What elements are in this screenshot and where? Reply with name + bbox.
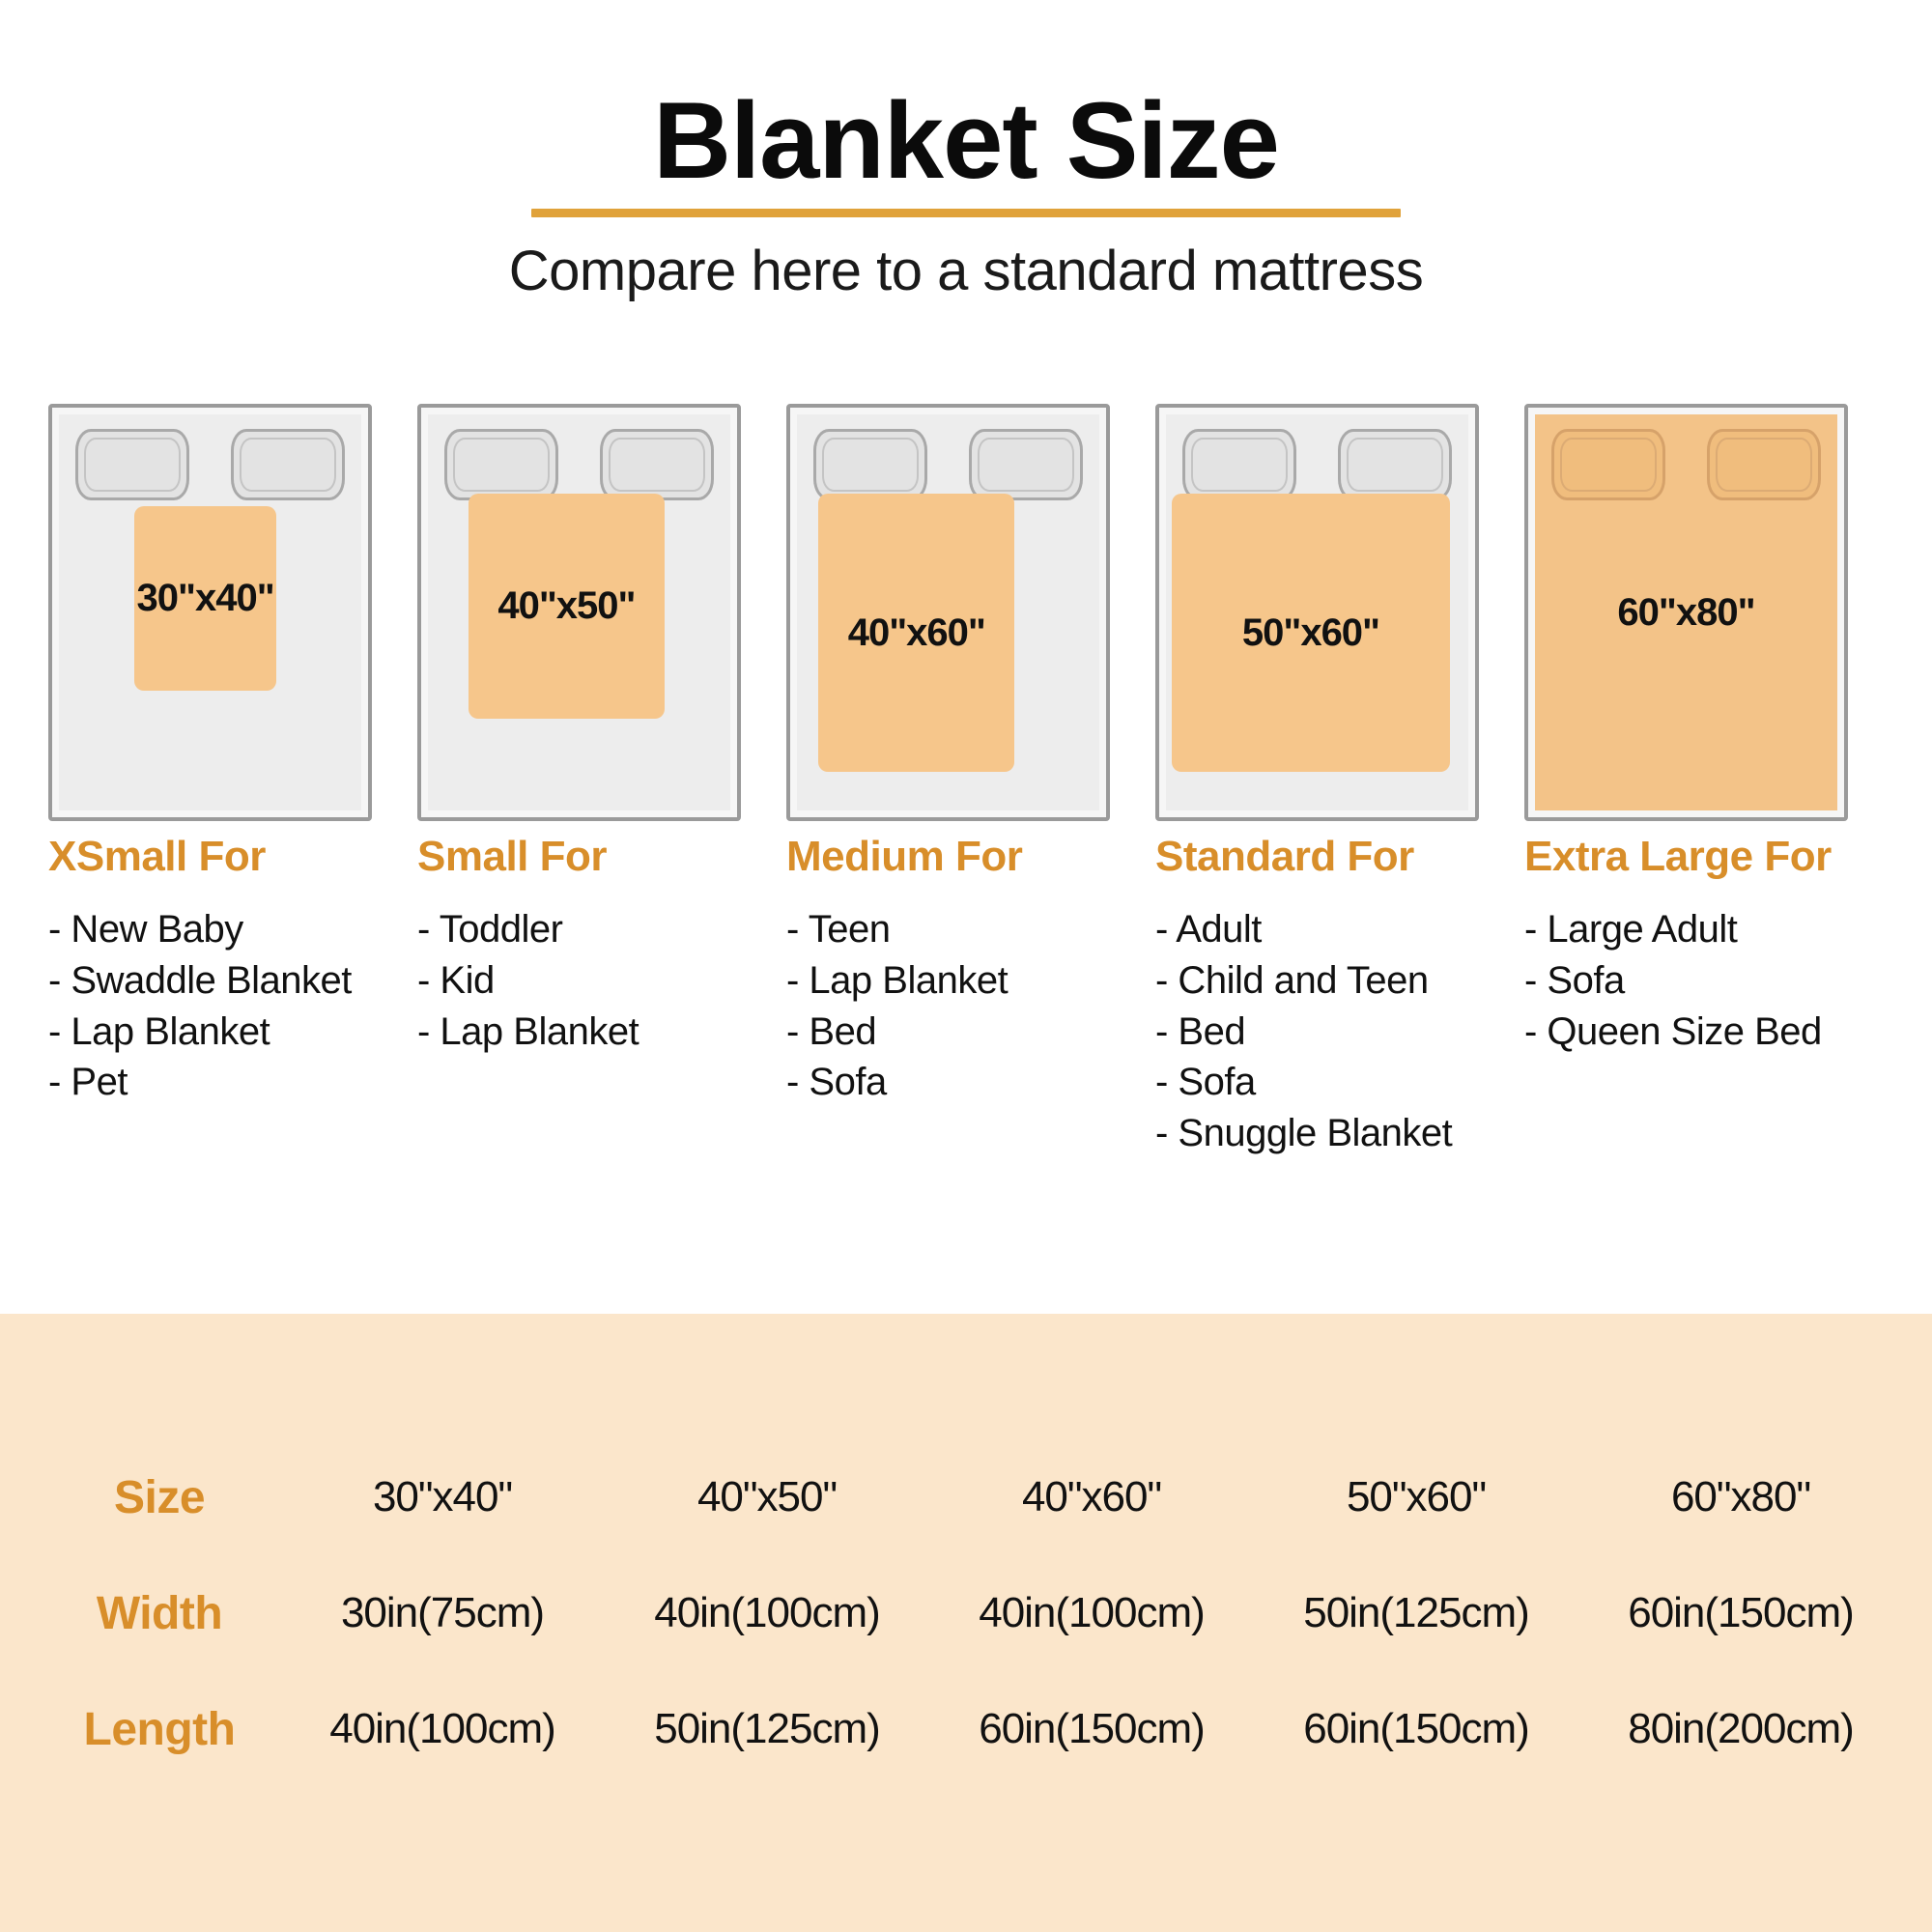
bed-diagram-small: 40"x50" — [417, 404, 741, 821]
blanket-size-label: 60"x80" — [1617, 591, 1754, 635]
table-cell: 60in(150cm) — [929, 1705, 1254, 1753]
column-heading-small: Small For — [417, 833, 786, 881]
bed-diagram-standard: 50"x60" — [1155, 404, 1479, 821]
pillow-icon — [75, 429, 189, 500]
list-item: - Kid — [417, 955, 786, 1007]
page-subtitle: Compare here to a standard mattress — [0, 239, 1932, 303]
size-table: Size 30"x40" 40"x50" 40"x60" 50"x60" 60"… — [39, 1439, 1903, 1787]
bed-diagram-extra-large: 60"x80" — [1524, 404, 1848, 821]
pillow-icon — [444, 429, 558, 500]
usage-column-medium: Medium For - Teen - Lap Blanket - Bed - … — [786, 833, 1155, 1159]
list-item: - Lap Blanket — [786, 955, 1155, 1007]
table-cell: 50"x60" — [1254, 1473, 1578, 1521]
blanket-size-chart: Blanket Size Compare here to a standard … — [0, 0, 1932, 1932]
usage-columns-row: XSmall For - New Baby - Swaddle Blanket … — [48, 833, 1913, 1159]
usage-list-standard: - Adult - Child and Teen - Bed - Sofa - … — [1155, 904, 1524, 1159]
list-item: - Pet — [48, 1057, 417, 1108]
pillow-icon — [1182, 429, 1296, 500]
bed-diagrams-row: 30"x40" 40"x50" 40"x60" — [48, 404, 1893, 821]
list-item: - Sofa — [1524, 955, 1893, 1007]
list-item: - Bed — [786, 1007, 1155, 1058]
blanket-rect-xsmall: 30"x40" — [134, 506, 276, 691]
size-table-panel: Size 30"x40" 40"x50" 40"x60" 50"x60" 60"… — [0, 1314, 1932, 1932]
list-item: - Lap Blanket — [48, 1007, 417, 1058]
bed-cell-small: 40"x50" — [417, 404, 786, 821]
list-item: - Lap Blanket — [417, 1007, 786, 1058]
table-cell: 30"x40" — [280, 1473, 605, 1521]
list-item: - Snuggle Blanket — [1155, 1108, 1524, 1159]
list-item: - Sofa — [1155, 1057, 1524, 1108]
column-heading-standard: Standard For — [1155, 833, 1524, 881]
usage-list-extra-large: - Large Adult - Sofa - Queen Size Bed — [1524, 904, 1893, 1057]
table-cell: 60in(150cm) — [1578, 1589, 1903, 1637]
bed-cell-xsmall: 30"x40" — [48, 404, 417, 821]
pillow-icon — [969, 429, 1083, 500]
blanket-rect-extra-large: 60"x80" — [1528, 408, 1844, 817]
blanket-size-label: 40"x50" — [497, 584, 635, 628]
blanket-rect-small: 40"x50" — [469, 494, 665, 719]
list-item: - Sofa — [786, 1057, 1155, 1108]
pillow-icon — [813, 429, 927, 500]
column-heading-extra-large: Extra Large For — [1524, 833, 1893, 881]
table-row-width: Width 30in(75cm) 40in(100cm) 40in(100cm)… — [39, 1555, 1903, 1671]
table-cell: 40"x50" — [605, 1473, 929, 1521]
column-heading-xsmall: XSmall For — [48, 833, 417, 881]
list-item: - New Baby — [48, 904, 417, 955]
usage-column-standard: Standard For - Adult - Child and Teen - … — [1155, 833, 1524, 1159]
usage-column-small: Small For - Toddler - Kid - Lap Blanket — [417, 833, 786, 1159]
row-label-length: Length — [39, 1703, 280, 1756]
usage-list-small: - Toddler - Kid - Lap Blanket — [417, 904, 786, 1057]
table-cell: 50in(125cm) — [605, 1705, 929, 1753]
bed-diagram-medium: 40"x60" — [786, 404, 1110, 821]
column-heading-medium: Medium For — [786, 833, 1155, 881]
pillow-icon — [231, 429, 345, 500]
table-row-length: Length 40in(100cm) 50in(125cm) 60in(150c… — [39, 1671, 1903, 1787]
row-label-size: Size — [39, 1471, 280, 1524]
bed-cell-medium: 40"x60" — [786, 404, 1155, 821]
list-item: - Queen Size Bed — [1524, 1007, 1893, 1058]
list-item: - Toddler — [417, 904, 786, 955]
header: Blanket Size Compare here to a standard … — [0, 0, 1932, 303]
list-item: - Swaddle Blanket — [48, 955, 417, 1007]
table-cell: 40in(100cm) — [605, 1589, 929, 1637]
table-cell: 40in(100cm) — [929, 1589, 1254, 1637]
list-item: - Large Adult — [1524, 904, 1893, 955]
list-item: - Teen — [786, 904, 1155, 955]
bed-cell-extra-large: 60"x80" — [1524, 404, 1893, 821]
list-item: - Adult — [1155, 904, 1524, 955]
table-row-size: Size 30"x40" 40"x50" 40"x60" 50"x60" 60"… — [39, 1439, 1903, 1555]
title-underline — [531, 209, 1401, 217]
blanket-size-label: 50"x60" — [1242, 611, 1379, 655]
table-cell: 30in(75cm) — [280, 1589, 605, 1637]
usage-list-medium: - Teen - Lap Blanket - Bed - Sofa — [786, 904, 1155, 1108]
table-cell: 40"x60" — [929, 1473, 1254, 1521]
blanket-size-label: 30"x40" — [137, 577, 274, 620]
table-cell: 60"x80" — [1578, 1473, 1903, 1521]
blanket-rect-medium: 40"x60" — [818, 494, 1014, 772]
table-cell: 60in(150cm) — [1254, 1705, 1578, 1753]
table-cell: 50in(125cm) — [1254, 1589, 1578, 1637]
list-item: - Bed — [1155, 1007, 1524, 1058]
blanket-rect-standard: 50"x60" — [1172, 494, 1450, 772]
pillow-icon — [600, 429, 714, 500]
row-label-width: Width — [39, 1587, 280, 1640]
bed-cell-standard: 50"x60" — [1155, 404, 1524, 821]
usage-list-xsmall: - New Baby - Swaddle Blanket - Lap Blank… — [48, 904, 417, 1108]
page-title: Blanket Size — [653, 87, 1279, 195]
usage-column-xsmall: XSmall For - New Baby - Swaddle Blanket … — [48, 833, 417, 1159]
table-cell: 40in(100cm) — [280, 1705, 605, 1753]
list-item: - Child and Teen — [1155, 955, 1524, 1007]
pillow-icon — [1338, 429, 1452, 500]
usage-column-extra-large: Extra Large For - Large Adult - Sofa - Q… — [1524, 833, 1893, 1159]
blanket-size-label: 40"x60" — [848, 611, 985, 655]
bed-diagram-xsmall: 30"x40" — [48, 404, 372, 821]
table-cell: 80in(200cm) — [1578, 1705, 1903, 1753]
